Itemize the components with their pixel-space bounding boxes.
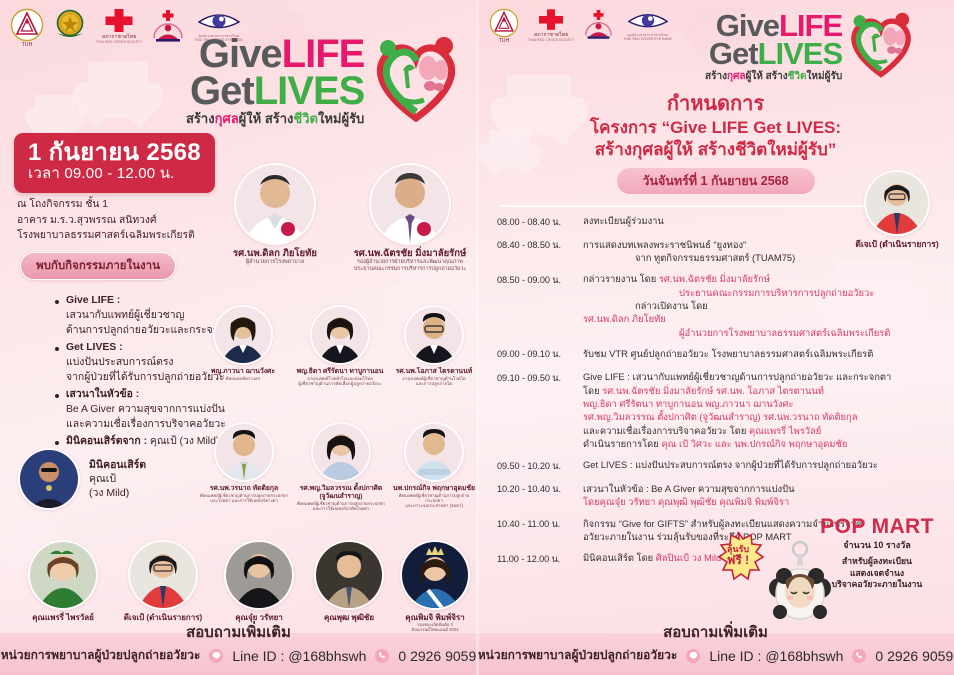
avatar: [28, 540, 98, 610]
person-card: รศ.นพ.วรนาถ ทัดติยกุล ศัลยแพทย์ผู้เชี่ยว…: [196, 422, 292, 503]
person-card: รศ.นพ.ฉัตรชัย มิ่งมาลัยรักษ์ รองผู้อำนวย…: [345, 163, 475, 272]
schedule-time: 10.20 - 10.40 น.: [497, 482, 583, 509]
person-name: คุณพุฒ พุฒิชัย: [324, 613, 374, 623]
panel-divider: [476, 0, 479, 675]
person-card: รศ.นพ.ดิลก ภิยโยทัย ผู้อำนวยการโรงพยาบาล: [220, 163, 330, 266]
phone-icon: [375, 649, 389, 663]
mini-concert-artist: คุณเป้: [89, 472, 146, 486]
mini-concert-block: มินิคอนเสิร์ต คุณเป้ (วง Mild): [18, 448, 146, 510]
free-gift-badge-text: ลุ้นรับ ฟรี !: [710, 531, 766, 581]
phone-value[interactable]: 0 2926 9059: [398, 648, 476, 664]
tuh-logo: TUH: [10, 8, 44, 48]
schedule-time: 09.00 - 09.10 น.: [497, 347, 583, 363]
schedule-row: 09.50 - 10.20 น. Get LIVES : แบ่งปันประส…: [497, 458, 937, 474]
venue-line: อาคาร ม.ร.ว.สุวพรรณ สนิทวงศ์: [17, 213, 195, 229]
person-role: และการใช้เลเซอร์ผ่าตัดโรคตา: [313, 506, 370, 511]
schedule-line: ดำเนินรายการโดย: [583, 438, 661, 449]
schedule-time: 08.00 - 08.40 น.: [497, 214, 583, 230]
schedule-desc: มินิคอนเสิร์ต โดย ศิลปินเป้ วง Mild: [583, 551, 721, 567]
person-role: ประธานคณะกรรมการบริหารการปลูกถ่ายอวัยวะ: [354, 266, 466, 272]
activities-heading: พบกับกิจกรรมภายในงาน: [20, 252, 176, 280]
person-role: มิสแกรนด์ไทยแลนด์ 2023: [411, 628, 458, 633]
person-card: คุณแพรรี่ ไพรวัลย์: [16, 540, 110, 623]
decorative-heart: [88, 62, 148, 118]
contact-row: หน่วยการพยาบาลผู้ป่วยปลูกถ่ายอวัยวะ Line…: [0, 646, 477, 665]
popmart-keychain-image: [764, 540, 836, 633]
brand-line-1: GiveLIFE: [199, 36, 364, 73]
brand-wordmark: GiveLIFE GetLIVES สร้างกุศลผู้ให้ สร้างช…: [186, 36, 364, 125]
contact-unit: หน่วยการพยาบาลผู้ป่วยปลูกถ่ายอวัยวะ: [1, 646, 201, 665]
schedule-line-name: โดยคุณจุ๋ย วรัทยา คุณพุฒิ พุฒิชัย คุณพิม…: [583, 496, 789, 507]
avatar: [400, 540, 470, 610]
tuh-logo: TUH: [489, 8, 519, 44]
schedule-line: กล่าวเปิดงาน โดย: [583, 299, 890, 312]
avatar: [128, 540, 198, 610]
agenda-heading-small: กำหนดการ: [477, 92, 954, 117]
organ-donation-centre-logo: [151, 8, 185, 44]
tuh-logo-label: TUH: [499, 39, 510, 44]
schedule-time: 08.50 - 09.00 น.: [497, 272, 583, 339]
person-card: คุณพิมจิ พิมพ์จิรา รองชนะเลิศอันดับ 2 มิ…: [392, 540, 477, 633]
schedule-row: 09.00 - 09.10 น. รับชม VTR ศูนย์ปลูกถ่าย…: [497, 347, 937, 363]
person-card: คุณพุฒ พุฒิชัย: [306, 540, 392, 623]
heart-organ-emblem: [370, 34, 462, 127]
schedule-line: การแสดงบทเพลงพระราชนิพนธ์ “ยูงทอง”: [583, 239, 746, 250]
person-card: ดีเจเป้ (ดำเนินรายการ): [112, 540, 214, 623]
panel-left-event-poster: TUH สภากาชาดไทย THAI RED CROSS SOCIETY: [0, 0, 477, 675]
schedule-time: 09.50 - 10.20 น.: [497, 458, 583, 474]
person-role: ศัลยแพทย์ผู้เชี่ยวชาญด้านการปลูกถ่ายกระจ…: [390, 493, 477, 503]
person-role: ผู้เชี่ยวชาญด้านการคัดเลือกผู้ปลูกถ่ายอว…: [298, 381, 381, 386]
thai-red-cross-logo: สภากาชาดไทย THAI RED CROSS SOCIETY: [96, 8, 142, 45]
line-icon: [686, 649, 700, 663]
mini-concert-text: มินิคอนเสิร์ต คุณเป้ (วง Mild): [89, 458, 146, 501]
panel-right-agenda: TUH สภากาชาดไทย THAI RED CROSS SOCIETY: [477, 0, 954, 675]
schedule-line-name: คุณ เป้ วิศวะ และ นพ.ปกรณ์กิจ พฤกษาอุดมช…: [661, 438, 847, 449]
schedule-desc: Get LIVES : แบ่งปันประสบการณ์ตรง จากผู้ป…: [583, 458, 878, 474]
person-role: ศัลยแพทย์ทรวงอก: [226, 376, 260, 381]
contact-unit: หน่วยการพยาบาลผู้ป่วยปลูกถ่ายอวัยวะ: [478, 646, 678, 665]
person-name: รศ.นพ.วรนาถ ทัดติยกุล: [210, 485, 278, 493]
schedule-line: Get LIVES : แบ่งปันประสบการณ์ตรง จากผู้ป…: [583, 459, 878, 470]
avatar: [311, 422, 371, 482]
brand-line-2: GetLIVES: [190, 73, 364, 110]
mini-concert-title: มินิคอนเสิร์ต: [89, 458, 146, 472]
brand-wordmark: GiveLIFE GetLIVES สร้างกุศลผู้ให้ สร้างช…: [705, 12, 842, 81]
popmart-title: POP MART: [811, 516, 943, 537]
thai-red-cross-sublabel: THAI RED CROSS SOCIETY: [528, 39, 574, 42]
schedule-row: 10.20 - 10.40 น. เสวนาในหัวข้อ : Be A Gi…: [497, 482, 937, 509]
brand-lockup-right: GiveLIFE GetLIVES สร้างกุศลผู้ให้ สร้างช…: [705, 10, 916, 83]
tuh-logo-label: TUH: [22, 43, 33, 48]
person-card: นพ.ปกรณ์กิจ พฤกษาอุดมชัย ศัลยแพทย์ผู้เชี…: [390, 422, 477, 508]
person-role: และการปลูกถ่ายไต: [416, 381, 452, 386]
schedule-line-name: คุณแพรรี่ ไพรวัลย์: [749, 425, 821, 436]
agenda-date-pill: วันจันทร์ที่ 1 กันยายน 2568: [616, 168, 814, 194]
schedule-line: ประธานคณะกรรมการบริหารการปลูกถ่ายอวัยวะ: [583, 286, 890, 299]
contact-row: หน่วยการพยาบาลผู้ป่วยปลูกถ่ายอวัยวะ Line…: [477, 646, 954, 665]
schedule-line: โดย: [583, 385, 602, 396]
brand-line-2: GetLIVES: [709, 40, 842, 69]
schedule-desc: กล่าวรายงาน โดย รศ.นพ.ฉัตรชัย มิ่งมาลัยร…: [583, 272, 890, 339]
avatar-concert-artist: [18, 448, 80, 510]
person-card: รศ.นพ.โอภาส ไตรตานนท์ อายุรแพทย์ผู้เชี่ย…: [390, 305, 477, 387]
line-id-value[interactable]: Line ID : @168bhswh: [232, 648, 366, 664]
person-name: รศ.นพ.ดิลก ภิยโยทัย: [233, 248, 317, 259]
schedule-line: กล่าวรายงาน โดย: [583, 273, 659, 284]
avatar: [214, 422, 274, 482]
agenda-heading-text: กำหนดการ: [477, 92, 954, 117]
avatar: [404, 305, 464, 365]
event-time: เวลา 09.00 - 12.00 น.: [28, 165, 201, 184]
person-role: และโรคตา และการใช้เลเซอร์ทางตา: [210, 498, 278, 503]
poster-root: TUH สภากาชาดไทย THAI RED CROSS SOCIETY: [0, 0, 954, 675]
schedule-time: 08.40 - 08.50 น.: [497, 238, 583, 265]
schedule-line: ผู้อำนวยการโรงพยาบาลธรรมศาสตร์เฉลิมพระเก…: [583, 326, 890, 339]
avatar: [224, 540, 294, 610]
schedule-line: รับชม VTR ศูนย์ปลูกถ่ายอวัยวะ โรงพยาบาลธ…: [583, 348, 873, 359]
person-name: พญ.ธิดา ศรีรัตนา ทาบูกานอน: [297, 368, 384, 376]
schedule-line: และความเชื่อเรื่องการบริจาคอวัยวะ โดย: [583, 425, 749, 436]
avatar: [234, 163, 316, 245]
schedule-desc: การแสดงบทเพลงพระราชนิพนธ์ “ยูงทอง” จาก ท…: [583, 238, 795, 265]
eye-bank-sublabel: THAI RED CROSS EYE BANK: [623, 38, 672, 41]
event-date-badge: 1 กันยายน 2568 เวลา 09.00 - 12.00 น.: [14, 133, 215, 193]
schedule-line: เสวนาในหัวข้อ : Be A Giver ความสุขจากการ…: [583, 483, 795, 494]
person-role: และภาวะจอประสาทตา (จอตา): [405, 503, 463, 508]
person-name: รศ.นพ.ฉัตรชัย มิ่งมาลัยรักษ์: [354, 248, 467, 259]
thai-red-cross-logo: สภากาชาดไทย THAI RED CROSS SOCIETY: [528, 8, 574, 43]
schedule-desc: เสวนาในหัวข้อ : Be A Giver ความสุขจากการ…: [583, 482, 795, 509]
event-date: 1 กันยายน 2568: [28, 140, 201, 165]
schedule-time: 10.40 - 11.00 น.: [497, 517, 583, 544]
person-role: ผู้อำนวยการโรงพยาบาล: [246, 259, 305, 266]
schedule-line: Give LIFE : เสวนากับแพทย์ผู้เชี่ยวชาญด้า…: [583, 371, 891, 382]
avatar: [314, 540, 384, 610]
decorative-heart: [35, 95, 75, 132]
contact-title: สอบถามเพิ่มเติม: [663, 620, 768, 644]
avatar: [213, 305, 273, 365]
person-card: คุณจุ๋ย วรัทยา: [216, 540, 302, 623]
schedule-row: 08.00 - 08.40 น. ลงทะเบียนผู้ร่วมงาน: [497, 214, 937, 230]
phone-value[interactable]: 0 2926 9059: [875, 648, 953, 664]
avatar: [310, 305, 370, 365]
person-name: คุณแพรรี่ ไพรวัลย์: [32, 613, 94, 623]
agenda-title-line-2: สร้างกุศลผู้ให้ สร้างชีวิตใหม่ผู้รับ”: [477, 139, 954, 161]
schedule-desc: ลงทะเบียนผู้ร่วมงาน: [583, 214, 664, 230]
free-badge-line-2: ฟรี !: [727, 554, 749, 567]
contact-title: สอบถามเพิ่มเติม: [186, 620, 291, 644]
partner-logos-right: TUH สภากาชาดไทย THAI RED CROSS SOCIETY: [489, 8, 672, 44]
mini-concert-band: (วง Mild): [89, 486, 146, 500]
schedule-time: 09.10 - 09.50 น.: [497, 370, 583, 450]
free-gift-badge: ลุ้นรับ ฟรี !: [710, 531, 766, 581]
heart-organ-emblem: [846, 10, 916, 83]
thai-red-cross-sublabel: THAI RED CROSS SOCIETY: [96, 41, 142, 44]
schedule-row: 08.50 - 09.00 น. กล่าวรายงาน โดย รศ.นพ.ฉ…: [497, 272, 937, 339]
schedule-line-name: รศ.นพ.ฉัตรชัย มิ่งมาลัยรักษ์: [659, 273, 770, 284]
person-name: พญ.ภาวนา ฌานวังศะ: [211, 368, 275, 376]
avatar: [404, 422, 464, 482]
line-icon: [209, 649, 223, 663]
schedule-line: จาก ทูตกิจกรรมธรรมศาสตร์ (TUAM75): [583, 251, 795, 264]
schedule-time: 11.00 - 12.00 น.: [497, 551, 583, 567]
schedule-desc: รับชม VTR ศูนย์ปลูกถ่ายอวัยวะ โรงพยาบาลธ…: [583, 347, 873, 363]
agenda-title-line-1: โครงการ “Give LIFE Get LIVES:: [477, 117, 954, 139]
schedule-line-name: พญ.ธิดา ศรีรัตนา ทาบูกานอน พญ.ภาวนา ฌานว…: [583, 398, 794, 409]
schedule-line-name: รศ.พญ.วิมลวรรณ ตั้งปกาศิต (จูวัฒนสำราญ) …: [583, 411, 857, 422]
person-card: รศ.พญ.วิมลวรรณ ตั้งปกาศิต (จูวัฒนสำราญ) …: [292, 422, 390, 511]
eye-bank-logo: ศูนย์ดวงตาสภากาชาดไทย THAI RED CROSS EYE…: [623, 8, 672, 42]
phone-icon: [852, 649, 866, 663]
contact-bar-left: สอบถามเพิ่มเติม หน่วยการพยาบาลผู้ป่วยปลู…: [0, 633, 477, 675]
schedule-desc: Give LIFE : เสวนากับแพทย์ผู้เชี่ยวชาญด้า…: [583, 370, 891, 450]
contact-bar-right: สอบถามเพิ่มเติม หน่วยการพยาบาลผู้ป่วยปลู…: [477, 633, 954, 675]
schedule-line-name: รศ.นพ.ดิลก ภิยโยทัย: [583, 313, 666, 324]
event-venue: ณ โถงกิจกรรม ชั้น 1 อาคาร ม.ร.ว.สุวพรรณ …: [17, 197, 195, 244]
person-name: นพ.ปกรณ์กิจ พฤกษาอุดมชัย: [393, 485, 475, 493]
person-card: พญ.ภาวนา ฌานวังศะ ศัลยแพทย์ทรวงอก: [196, 305, 290, 381]
person-name: รศ.นพ.โอภาส ไตรตานนท์: [396, 368, 472, 376]
person-name-suffix: (จูวัฒนสำราญ): [319, 493, 362, 501]
person-name: รศ.พญ.วิมลวรรณ ตั้งปกาศิต: [300, 485, 383, 493]
thammasat-emblem-logo: [53, 8, 87, 42]
brand-lockup-left: GiveLIFE GetLIVES สร้างกุศลผู้ให้ สร้างช…: [186, 34, 462, 127]
agenda-project-title: โครงการ “Give LIFE Get LIVES: สร้างกุศลผ…: [477, 117, 954, 162]
line-id-value[interactable]: Line ID : @168bhswh: [709, 648, 843, 664]
brand-tagline: สร้างกุศลผู้ให้ สร้างชีวิตใหม่ผู้รับ: [186, 113, 364, 125]
schedule-line: มินิคอนเสิร์ต โดย: [583, 552, 656, 563]
schedule-line: ลงทะเบียนผู้ร่วมงาน: [583, 215, 664, 226]
organ-donation-centre-logo: [583, 8, 614, 41]
schedule-row: 09.10 - 09.50 น. Give LIFE : เสวนากับแพท…: [497, 370, 937, 450]
avatar: [369, 163, 451, 245]
schedule-line-name: รศ.นพ.ฉัตรชัย มิ่งมาลัยรักษ์ รศ.นพ. โอภา…: [602, 385, 824, 396]
venue-line: โรงพยาบาลธรรมศาสตร์เฉลิมพระเกียรติ: [17, 228, 195, 244]
venue-line: ณ โถงกิจกรรม ชั้น 1: [17, 197, 195, 213]
person-card: พญ.ธิดา ศรีรัตนา ทาบูกานอน อายุรแพทย์โรค…: [290, 305, 390, 387]
schedule-row: 08.40 - 08.50 น. การแสดงบทเพลงพระราชนิพน…: [497, 238, 937, 265]
brand-tagline: สร้างกุศลผู้ให้ สร้างชีวิตใหม่ผู้รับ: [705, 72, 842, 81]
